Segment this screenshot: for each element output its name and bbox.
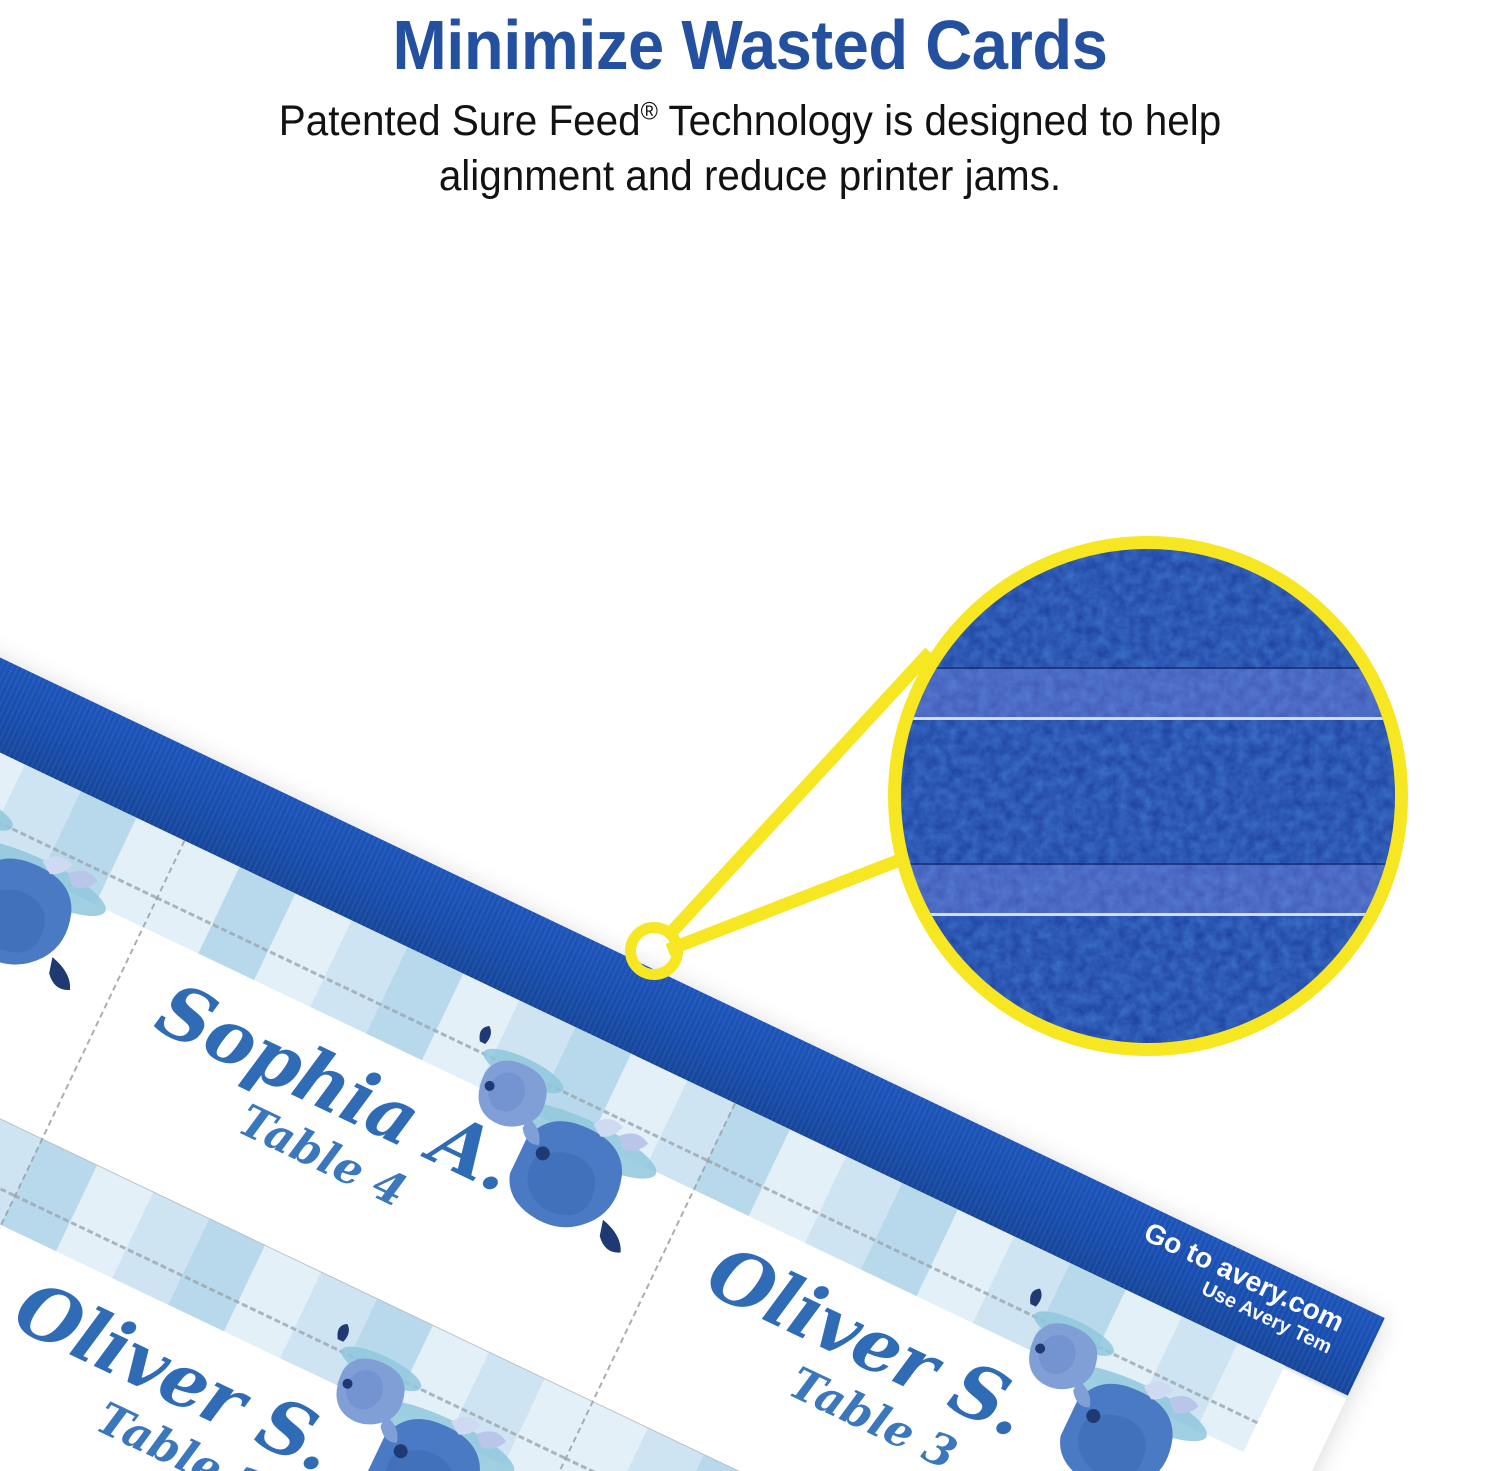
product-photo-scene: AVERY R Go to avery.com Use Avery Tem Ol… (0, 250, 1500, 1471)
page-subtitle: Patented Sure Feed® Technology is design… (261, 84, 1239, 204)
subtitle-text-before: Patented Sure Feed (279, 97, 641, 145)
page-title: Minimize Wasted Cards (53, 0, 1448, 84)
registered-trademark-symbol: ® (641, 98, 658, 126)
product-feature-image: Minimize Wasted Cards Patented Sure Feed… (0, 0, 1500, 1471)
sure-feed-strip-zoom-target (625, 922, 683, 980)
header: Minimize Wasted Cards Patented Sure Feed… (0, 0, 1500, 204)
magnifier-icon (888, 536, 1408, 1056)
magnifier-callout (880, 528, 1425, 1093)
